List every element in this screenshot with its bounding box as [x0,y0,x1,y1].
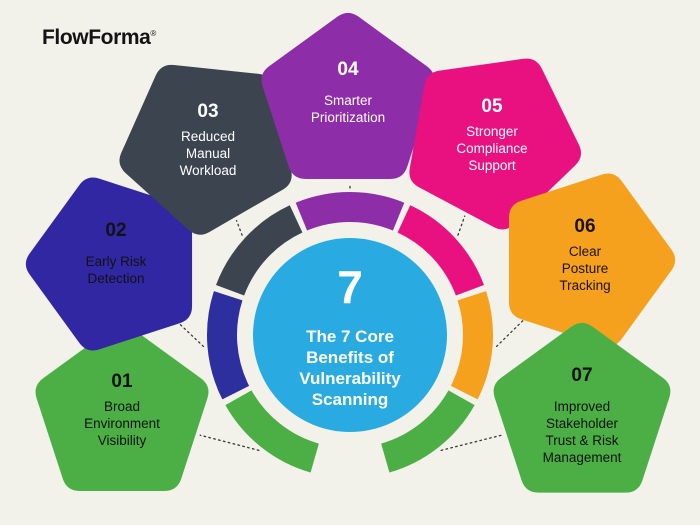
node-label-03-line-1: Reduced [181,129,235,144]
center-big-number: 7 [337,261,363,313]
benefit-node-04[interactable]: 04SmarterPrioritization [262,13,435,179]
connector-line-05 [458,216,465,235]
node-label-02-line-2: Detection [87,271,144,286]
infographic-canvas: FlowForma® 7The 7 CoreBenefits ofVulnera… [0,0,700,525]
node-label-02-line-1: Early Risk [86,254,147,269]
benefit-node-01[interactable]: 01BroadEnvironmentVisibility [36,325,209,491]
center-title-line-2: Benefits of [306,348,394,367]
node-label-03-line-2: Manual [186,146,230,161]
node-number-07: 07 [571,365,592,386]
node-label-05-line-3: Support [468,158,516,173]
node-number-01: 01 [111,371,133,392]
center-title-line-1: The 7 Core [306,327,394,346]
connector-line-02 [175,319,204,346]
center-title-line-4: Scanning [312,390,389,409]
node-number-06: 06 [574,216,595,237]
node-number-02: 02 [105,220,126,241]
node-label-06-line-2: Posture [562,261,609,276]
node-label-01-line-2: Environment [84,416,160,431]
node-number-05: 05 [481,96,503,117]
connector-line-03 [237,221,243,236]
ring-segment-04 [296,192,405,230]
center-circle: 7The 7 CoreBenefits ofVulnerabilityScann… [253,238,447,432]
node-label-05-line-2: Compliance [456,141,527,156]
ring-segment-02 [207,291,249,399]
connector-line-07 [441,435,502,450]
node-number-03: 03 [197,101,218,122]
node-label-06-line-3: Tracking [559,278,610,293]
infographic-graphic: 7The 7 CoreBenefits ofVulnerabilityScann… [0,0,700,525]
node-label-07-line-3: Trust & Risk [545,433,618,448]
node-label-03-line-3: Workload [180,163,237,178]
connector-line-01 [200,435,259,450]
node-label-01-line-1: Broad [104,399,140,414]
node-label-06-line-1: Clear [569,244,602,259]
node-label-04-line-2: Prioritization [311,110,385,125]
node-label-07-line-1: Improved [554,399,610,414]
node-shape-06[interactable] [509,174,675,347]
node-label-05-line-1: Stronger [466,124,518,139]
node-label-07-line-2: Stakeholder [546,416,619,431]
node-label-04-line-1: Smarter [324,93,373,108]
ring-segment-06 [451,291,493,399]
node-label-01-line-3: Visibility [98,433,147,448]
node-label-07-line-4: Management [543,450,622,465]
connector-line-06 [497,316,528,346]
center-title-line-3: Vulnerability [299,369,401,388]
benefit-node-07[interactable]: 07ImprovedStakeholderTrust & RiskManagem… [494,323,671,493]
node-number-04: 04 [337,59,359,80]
benefit-node-06[interactable]: 06ClearPostureTracking [509,174,675,347]
